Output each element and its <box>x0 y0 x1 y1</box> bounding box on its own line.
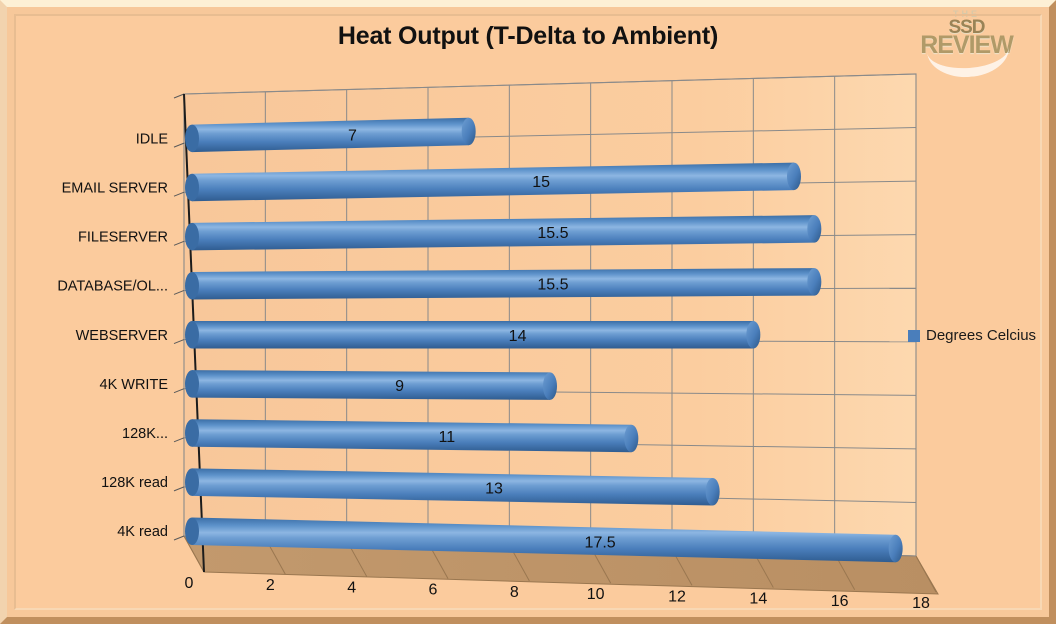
x-tick-label: 0 <box>185 575 194 592</box>
x-tick-label: 4 <box>347 579 356 596</box>
category-label: IDLE <box>136 131 169 147</box>
bar <box>185 268 821 299</box>
chart-legend: Degrees Celcius <box>908 327 1036 344</box>
category-label: 4K WRITE <box>100 377 169 393</box>
bar-data-label: 11 <box>439 429 456 446</box>
category-label: 128K... <box>122 426 168 442</box>
x-tick-label: 16 <box>831 593 849 608</box>
category-label: 128K read <box>101 475 168 491</box>
bar <box>185 370 557 400</box>
chart-title: Heat Output (T-Delta to Ambient) <box>0 22 1056 51</box>
legend-swatch-degrees-celcius <box>908 330 920 342</box>
brand-logo-review: REVIEW <box>899 33 1034 58</box>
bar-data-label: 15.5 <box>537 276 568 293</box>
category-label: 4K read <box>117 524 168 540</box>
x-tick-label: 18 <box>912 595 930 608</box>
bar <box>185 321 760 349</box>
x-tick-label: 6 <box>429 582 438 599</box>
bar-data-label: 14 <box>509 328 527 345</box>
bar-data-label: 7 <box>348 127 357 144</box>
x-tick-label: 14 <box>749 591 767 608</box>
legend-label-degrees-celcius: Degrees Celcius <box>926 327 1036 344</box>
bar-data-label: 15.5 <box>537 225 568 242</box>
x-tick-label: 2 <box>266 577 275 594</box>
chart-plot-area: 71515.515.5149111317.5 IDLEEMAIL SERVERF… <box>16 16 1040 608</box>
bar-data-label: 17.5 <box>585 534 616 551</box>
bar-data-label: 15 <box>532 174 550 191</box>
category-label: FILESERVER <box>78 230 168 246</box>
brand-logo: THE SSD REVIEW <box>899 10 1034 72</box>
category-label: DATABASE/OL... <box>57 279 168 295</box>
bar-data-label: 13 <box>485 481 503 498</box>
category-axis-labels: IDLEEMAIL SERVERFILESERVERDATABASE/OL...… <box>57 131 168 540</box>
x-tick-label: 10 <box>587 586 605 603</box>
bar-data-label: 9 <box>395 378 404 395</box>
bar <box>185 419 638 452</box>
category-label: EMAIL SERVER <box>62 180 168 196</box>
chart-frame: Heat Output (T-Delta to Ambient) THE SSD… <box>0 0 1056 624</box>
x-tick-label: 8 <box>510 584 519 601</box>
category-label: WEBSERVER <box>76 328 168 344</box>
x-tick-label: 12 <box>668 588 686 605</box>
